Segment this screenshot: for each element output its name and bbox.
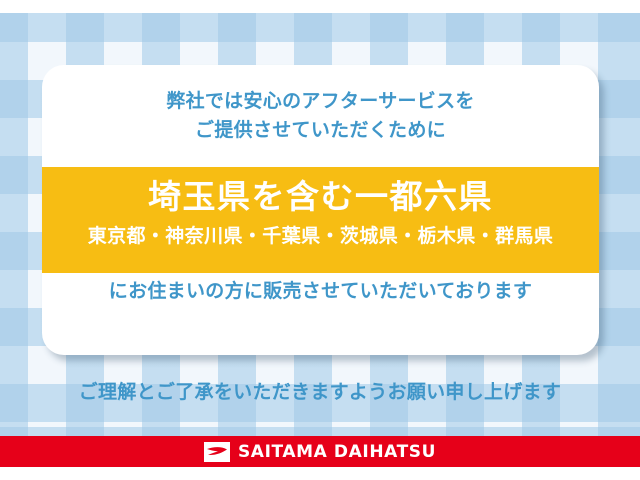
brand-footer: SAITAMA DAIHATSU [0, 436, 640, 467]
daihatsu-d-logo-icon [204, 442, 230, 462]
brand-name: SAITAMA DAIHATSU [238, 442, 436, 462]
intro-line-1: 弊社では安心のアフターサービスを [42, 87, 599, 116]
notice-card: 弊社では安心のアフターサービスを ご提供させていただくために 埼玉県を含む一都六… [42, 65, 599, 355]
highlight-band-subtitle: 東京都・神奈川県・千葉県・茨城県・栃木県・群馬県 [42, 220, 599, 252]
card-intro-block: 弊社では安心のアフターサービスを ご提供させていただくために [42, 65, 599, 145]
notice-text: ご理解とご了承をいただきますようお願い申し上げます [0, 377, 640, 404]
intro-line-2: ご提供させていただくために [42, 116, 599, 145]
closing-line: にお住まいの方に販売させていただいております [42, 277, 599, 306]
poster-canvas: 弊社では安心のアフターサービスを ご提供させていただくために 埼玉県を含む一都六… [0, 0, 640, 480]
card-closing-block: にお住まいの方に販売させていただいております [42, 277, 599, 306]
highlight-band: 埼玉県を含む一都六県 東京都・神奈川県・千葉県・茨城県・栃木県・群馬県 [42, 167, 599, 273]
highlight-band-title: 埼玉県を含む一都六県 [42, 174, 599, 220]
